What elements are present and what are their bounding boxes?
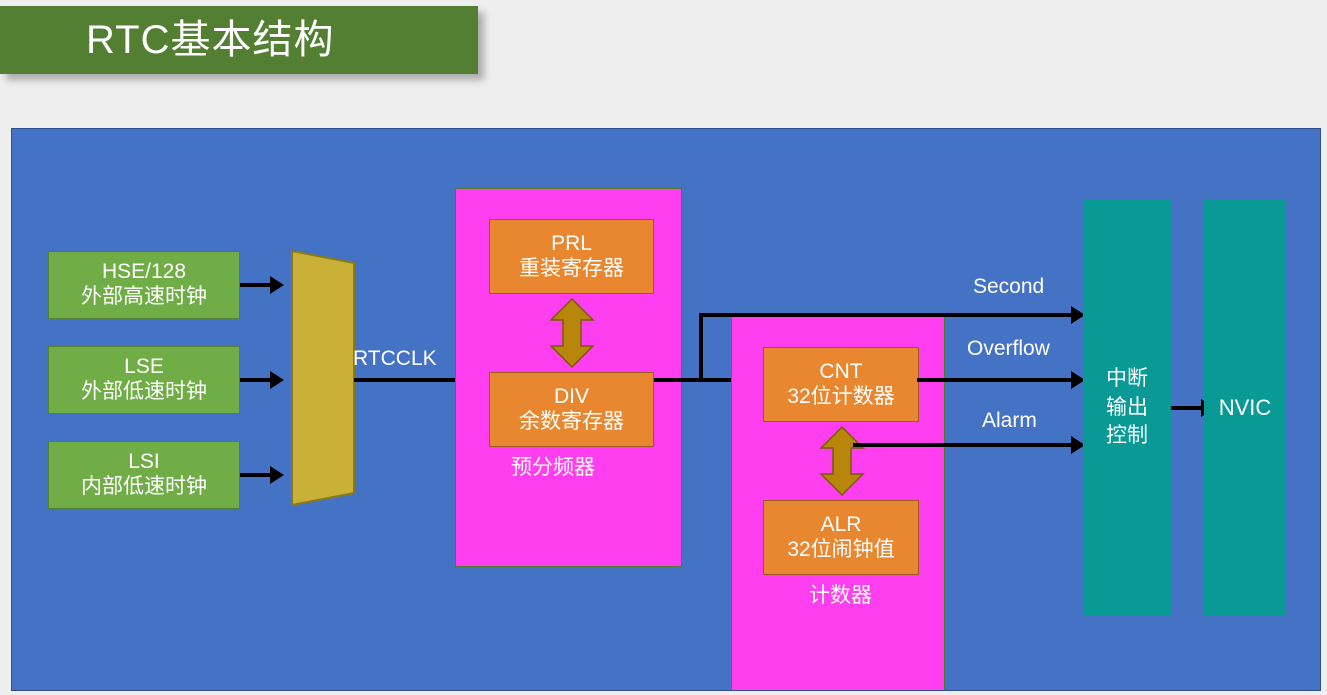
clock-multiplexer[interactable] bbox=[288, 247, 358, 509]
register-div-line1: DIV bbox=[554, 385, 589, 410]
register-cnt[interactable]: CNT 32位计数器 bbox=[763, 347, 919, 422]
signal-label-alarm: Alarm bbox=[982, 409, 1037, 433]
arrowhead-lse-to-mux bbox=[270, 371, 284, 389]
register-div-line2: 余数寄存器 bbox=[519, 410, 624, 435]
clock-source-lse[interactable]: LSE 外部低速时钟 bbox=[48, 346, 240, 414]
wire-interrupt-to-nvic bbox=[1171, 406, 1203, 410]
register-div[interactable]: DIV 余数寄存器 bbox=[489, 372, 654, 447]
clock-source-lse-line2: 外部低速时钟 bbox=[81, 380, 207, 405]
interrupt-control-line2: 输出 bbox=[1106, 394, 1148, 422]
counter-caption: 计数器 bbox=[809, 579, 872, 609]
interrupt-control-line1: 中断 bbox=[1106, 365, 1148, 393]
clock-source-lsi[interactable]: LSI 内部低速时钟 bbox=[48, 441, 240, 509]
clock-source-lsi-line1: LSI bbox=[128, 450, 160, 475]
interrupt-control-line3: 控制 bbox=[1106, 422, 1148, 450]
wire-second bbox=[699, 313, 1081, 317]
prescaler-caption: 预分频器 bbox=[511, 451, 595, 481]
clock-source-lsi-line2: 内部低速时钟 bbox=[81, 475, 207, 500]
wire-overflow bbox=[917, 378, 1081, 382]
register-prl[interactable]: PRL 重装寄存器 bbox=[489, 219, 654, 294]
double-arrow-icon-prl-div bbox=[548, 297, 596, 369]
register-alr[interactable]: ALR 32位闹钟值 bbox=[763, 500, 919, 575]
title-banner: RTC基本结构 bbox=[0, 6, 478, 74]
register-cnt-line1: CNT bbox=[819, 360, 862, 385]
wire-alarm bbox=[853, 443, 1081, 447]
register-alr-line1: ALR bbox=[821, 513, 862, 538]
register-prl-line2: 重装寄存器 bbox=[519, 257, 624, 282]
register-cnt-line2: 32位计数器 bbox=[787, 385, 894, 410]
clock-source-lse-line1: LSE bbox=[124, 355, 164, 380]
signal-label-overflow: Overflow bbox=[967, 337, 1050, 361]
clock-source-hse-line1: HSE/128 bbox=[102, 260, 186, 285]
double-arrow-icon-cnt-alr bbox=[818, 425, 866, 497]
interrupt-output-control-block[interactable]: 中断 输出 控制 bbox=[1083, 200, 1171, 616]
wire-mux-to-div bbox=[354, 378, 458, 382]
wire-lse-to-mux bbox=[240, 378, 272, 382]
signal-label-second: Second bbox=[973, 275, 1044, 299]
arrowhead-lsi-to-mux bbox=[270, 466, 284, 484]
register-prl-line1: PRL bbox=[551, 232, 592, 257]
clock-source-hse[interactable]: HSE/128 外部高速时钟 bbox=[48, 251, 240, 319]
rtc-block-diagram: HSE/128 外部高速时钟 LSE 外部低速时钟 LSI 内部低速时钟 RTC… bbox=[11, 128, 1321, 691]
arrowhead-hse-to-mux bbox=[270, 276, 284, 294]
wire-lsi-to-mux bbox=[240, 473, 272, 477]
page-title: RTC基本结构 bbox=[86, 20, 334, 60]
wire-hse-to-mux bbox=[240, 283, 272, 287]
wire-div-branch-up bbox=[699, 313, 703, 380]
rtcclk-label: RTCCLK bbox=[353, 347, 437, 371]
clock-source-hse-line2: 外部高速时钟 bbox=[81, 285, 207, 310]
nvic-block[interactable]: NVIC bbox=[1204, 200, 1286, 616]
register-alr-line2: 32位闹钟值 bbox=[787, 538, 894, 563]
nvic-label: NVIC bbox=[1219, 395, 1272, 421]
